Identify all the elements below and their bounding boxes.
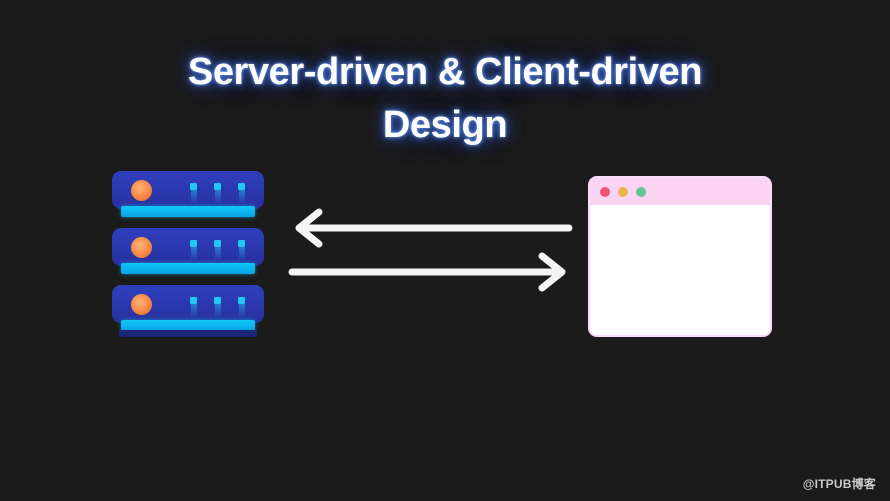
server-unit-1 — [112, 171, 264, 217]
status-indicator-group — [190, 183, 248, 205]
status-dot-icon — [190, 240, 197, 247]
status-dot-icon — [214, 183, 221, 190]
status-dot-icon — [238, 240, 245, 247]
browser-titlebar — [590, 178, 770, 205]
status-dot-icon — [238, 297, 245, 304]
page-title: Server-driven & Client-driven Design — [0, 46, 890, 152]
arrow-server-to-client — [299, 212, 569, 244]
server-unit-light-bar — [121, 263, 255, 274]
browser-content-area — [590, 205, 770, 335]
server-stack-illustration — [112, 171, 264, 337]
slide-canvas: Server-driven & Client-driven Design — [0, 0, 890, 501]
status-dot-icon — [190, 183, 197, 190]
status-dot-icon — [190, 297, 197, 304]
status-dot-icon — [214, 240, 221, 247]
status-indicator-group — [190, 297, 248, 319]
status-dot-icon — [238, 183, 245, 190]
maximize-dot-icon[interactable] — [636, 187, 646, 197]
arrows-svg — [288, 206, 573, 294]
server-unit-2 — [112, 228, 264, 274]
client-browser-window — [588, 176, 772, 337]
arrow-group — [288, 206, 573, 294]
close-dot-icon[interactable] — [600, 187, 610, 197]
minimize-dot-icon[interactable] — [618, 187, 628, 197]
power-led-icon — [131, 180, 152, 201]
server-unit-light-bar — [121, 206, 255, 217]
power-led-icon — [131, 237, 152, 258]
arrow-client-to-server — [292, 256, 562, 288]
status-dot-icon — [214, 297, 221, 304]
server-base-plate — [119, 330, 257, 337]
watermark: @ITPUB博客 — [803, 475, 876, 492]
status-indicator-group — [190, 240, 248, 262]
server-unit-3 — [112, 285, 264, 331]
power-led-icon — [131, 294, 152, 315]
